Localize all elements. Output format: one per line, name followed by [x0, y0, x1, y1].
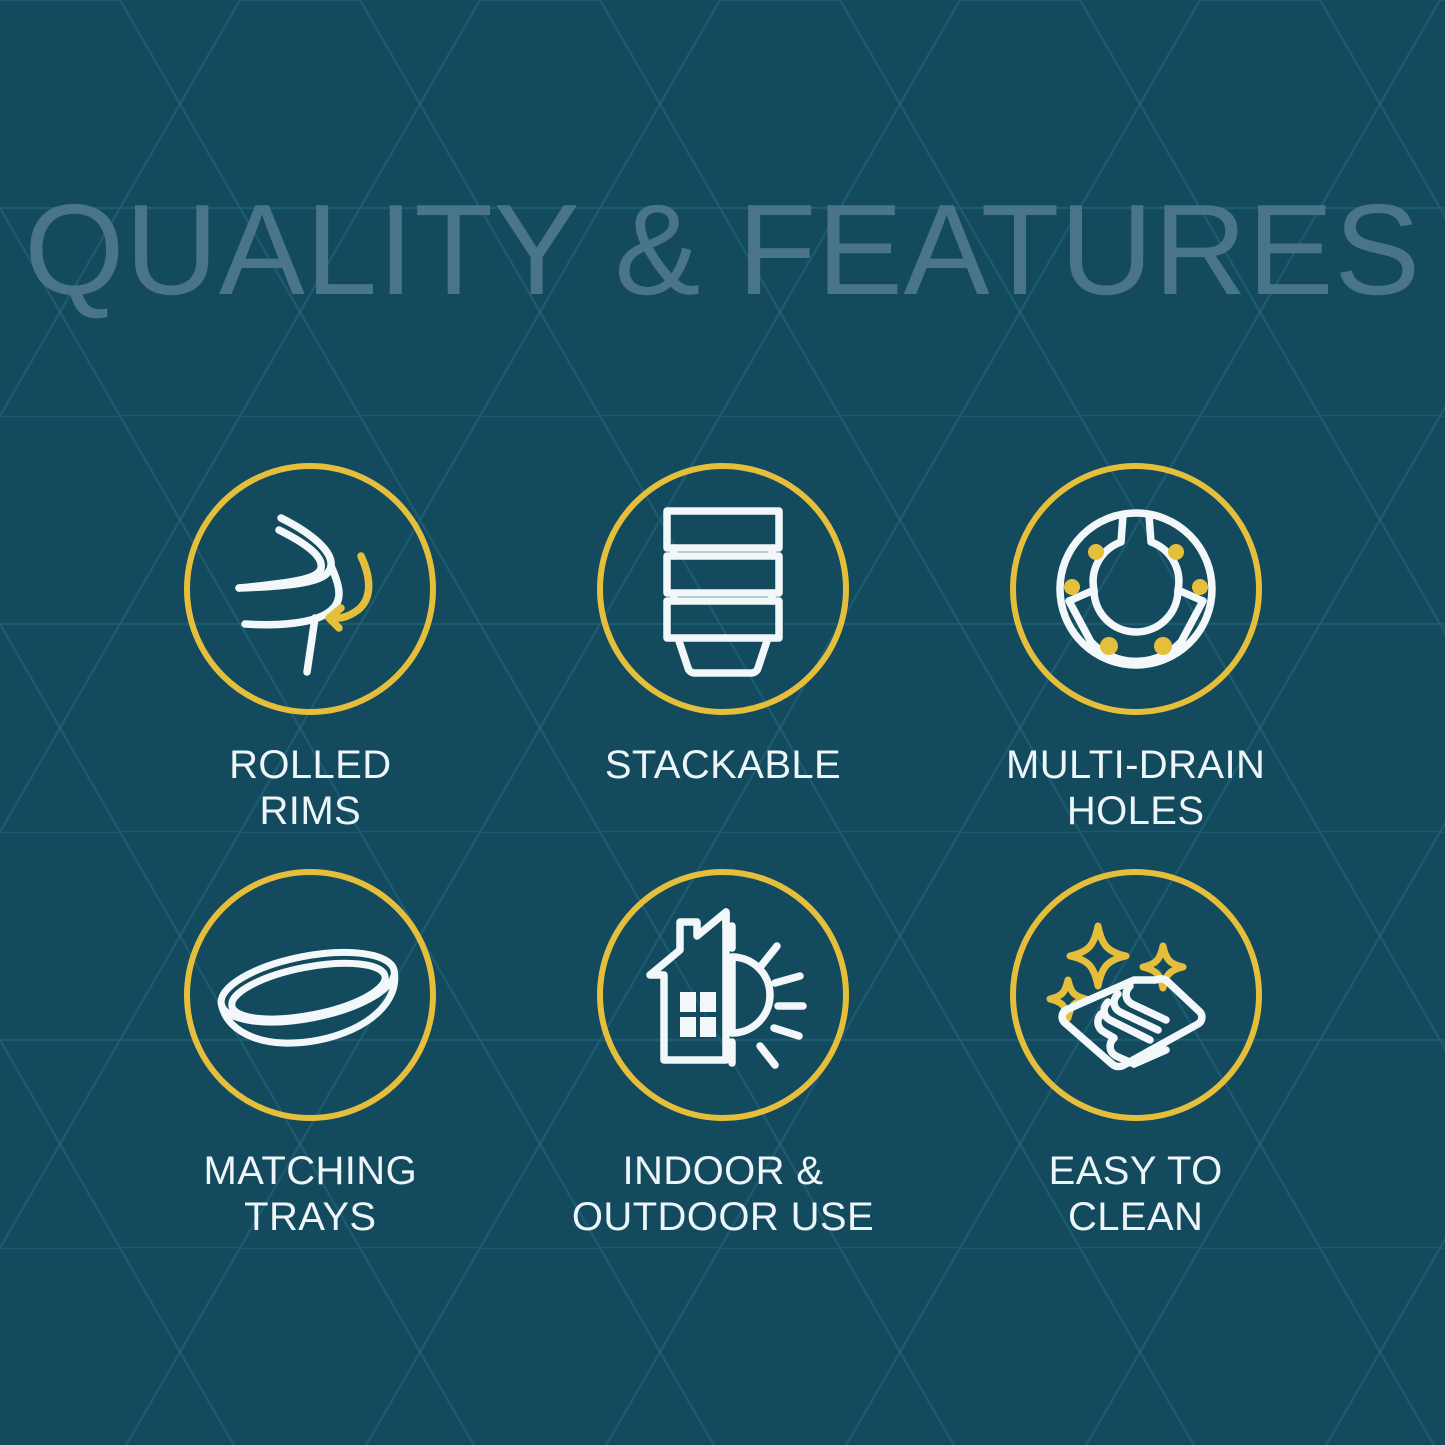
window-panes [680, 992, 716, 1037]
house-sun-icon [628, 900, 818, 1090]
saucer-tray-icon [210, 895, 410, 1095]
feature-label: INDOOR & OUTDOOR USE [572, 1148, 874, 1241]
infographic-page: QUALITY & FEATURES [0, 0, 1445, 1445]
rolled-rim-icon [215, 494, 405, 684]
icon-ring-matching-trays [184, 869, 436, 1121]
icon-ring-easy-to-clean [1010, 869, 1262, 1121]
drain-holes-icon [1041, 494, 1231, 684]
feature-label: MULTI-DRAIN HOLES [1006, 742, 1265, 835]
feature-item-rolled-rims[interactable]: ROLLED RIMS [104, 463, 517, 869]
page-title: QUALITY & FEATURES [0, 186, 1445, 315]
wiping-hand-sparkle-icon [1038, 898, 1233, 1093]
stacked-pots-icon [628, 494, 818, 684]
feature-grid: ROLLED RIMS [104, 463, 1342, 1275]
feature-label: MATCHING TRAYS [204, 1148, 418, 1241]
feature-label: EASY TO CLEAN [1049, 1148, 1223, 1241]
icon-ring-indoor-outdoor [597, 869, 849, 1121]
feature-item-matching-trays[interactable]: MATCHING TRAYS [104, 869, 517, 1275]
feature-label: STACKABLE [605, 742, 841, 788]
icon-ring-multi-drain-holes [1010, 463, 1262, 715]
feature-item-indoor-outdoor[interactable]: INDOOR & OUTDOOR USE [517, 869, 930, 1275]
feature-item-easy-to-clean[interactable]: EASY TO CLEAN [929, 869, 1342, 1275]
feature-item-multi-drain-holes[interactable]: MULTI-DRAIN HOLES [929, 463, 1342, 869]
icon-ring-stackable [597, 463, 849, 715]
feature-item-stackable[interactable]: STACKABLE [517, 463, 930, 869]
feature-label: ROLLED RIMS [229, 742, 391, 835]
icon-ring-rolled-rims [184, 463, 436, 715]
